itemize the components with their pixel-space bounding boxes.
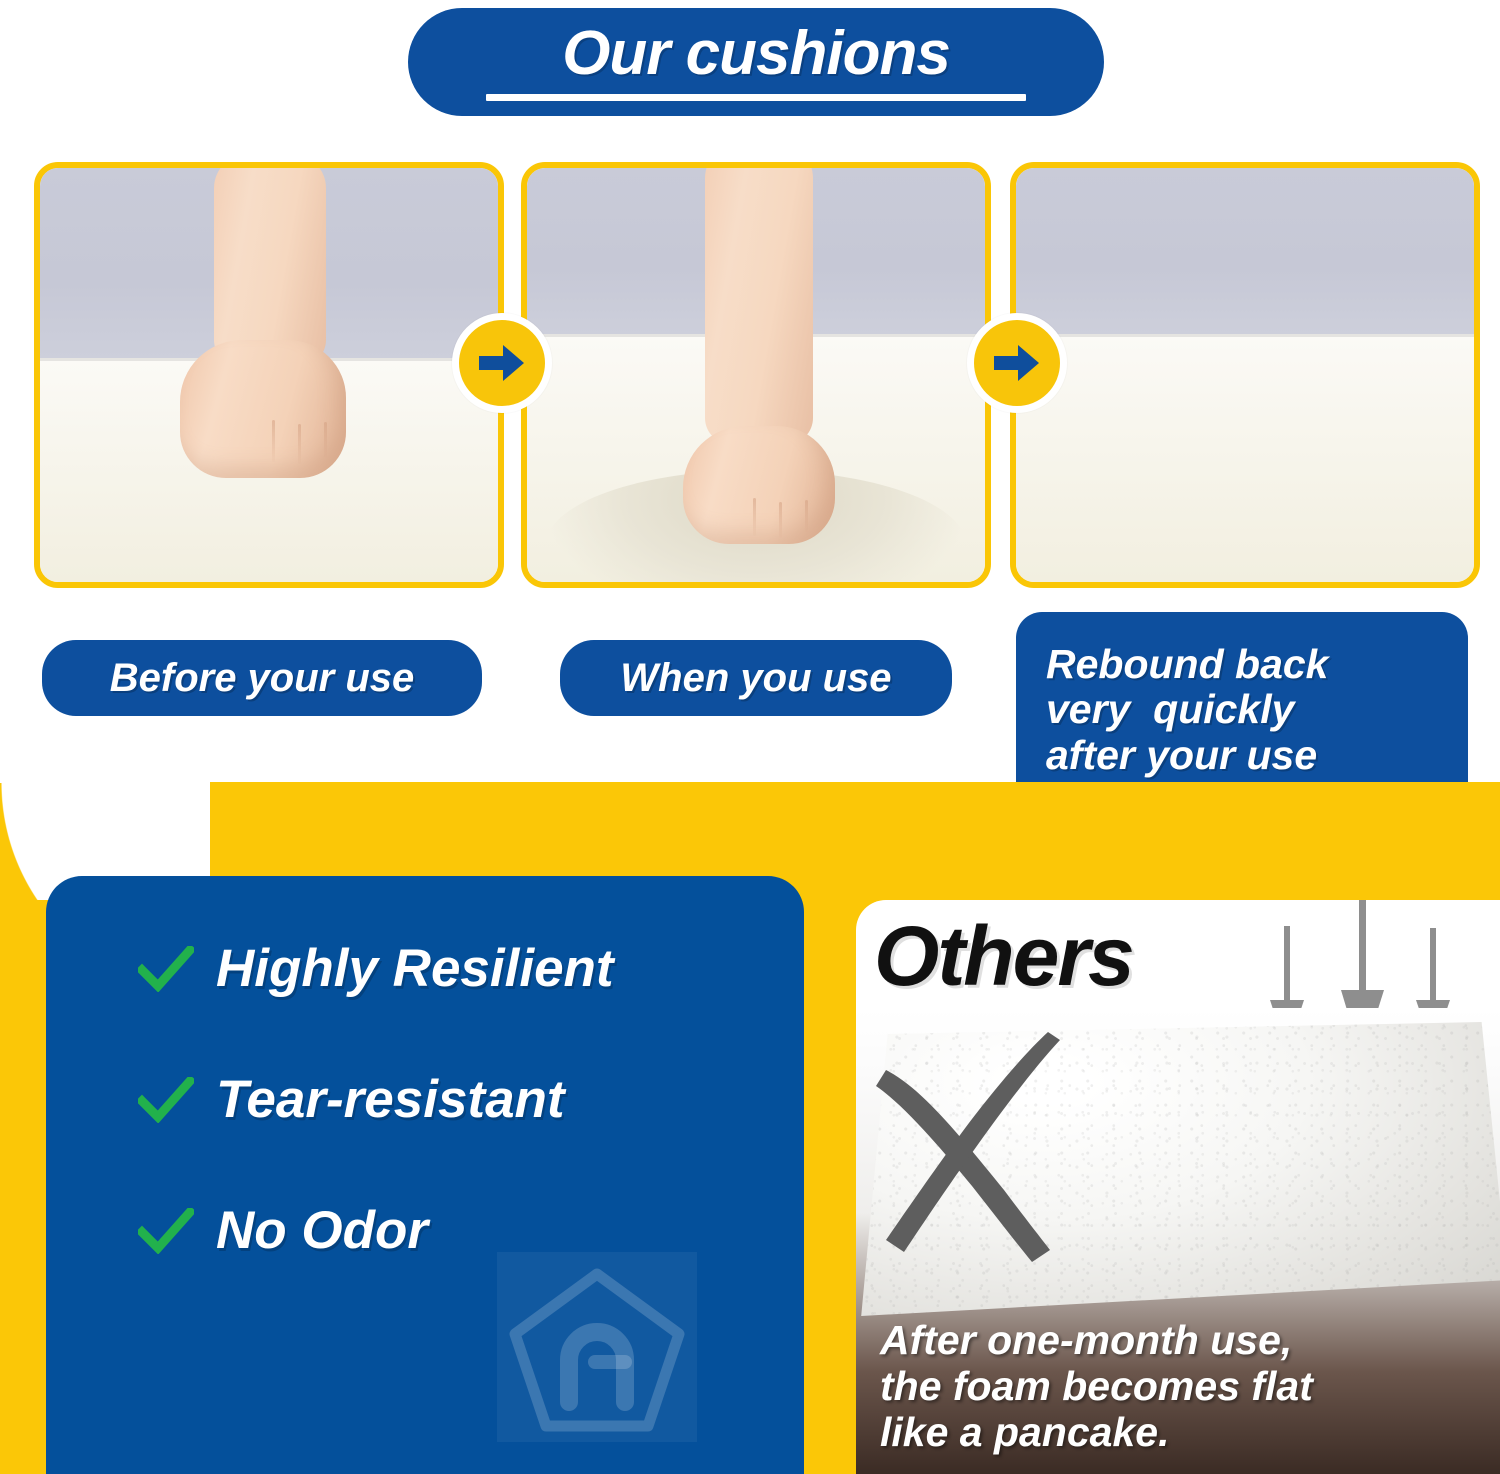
infographic-canvas: Our cushions: [0, 0, 1500, 1474]
check-icon: [138, 946, 194, 992]
caption-line-1: Rebound back: [1046, 642, 1328, 687]
feature-item: Tear-resistant: [138, 1073, 798, 1126]
x-cross-icon: [864, 1018, 1114, 1268]
caption-text: Before your use: [110, 656, 415, 701]
pentagon-a-logo-icon: [497, 1252, 697, 1442]
demo-photo-during: [521, 162, 991, 588]
page-title-pill: Our cushions: [408, 8, 1104, 116]
caption-line-2: very quickly: [1046, 687, 1294, 732]
step-arrow-2: [967, 313, 1067, 413]
photo-foam-surface: [1016, 334, 1474, 582]
arrow-right-icon: [479, 343, 525, 383]
title-underline: [486, 94, 1026, 101]
step-arrow-1: [452, 313, 552, 413]
others-caption-line-1: After one-month use,: [880, 1318, 1480, 1364]
feature-item: Highly Resilient: [138, 942, 798, 995]
caption-when-you-use: When you use: [560, 640, 952, 716]
check-icon: [138, 1077, 194, 1123]
fist-illustration-before: [180, 164, 360, 464]
others-title: Others: [874, 914, 1133, 998]
caption-line-3: after your use: [1046, 733, 1317, 778]
others-flat-foam-photo: After one-month use, the foam becomes fl…: [856, 1008, 1500, 1474]
fist-illustration-during: [669, 162, 849, 574]
caption-rebound: Rebound back very quickly after your use: [1016, 612, 1468, 808]
demo-photo-after: [1010, 162, 1480, 588]
check-icon: [138, 1208, 194, 1254]
feature-label: No Odor: [216, 1204, 428, 1257]
feature-label: Tear-resistant: [216, 1073, 565, 1126]
others-caption-line-2: the foam becomes flat: [880, 1364, 1480, 1410]
photo-background-wall: [1016, 168, 1474, 334]
page-title: Our cushions: [562, 23, 950, 85]
demo-photo-before: [34, 162, 504, 588]
feature-item: No Odor: [138, 1204, 798, 1257]
others-caption-line-3: like a pancake.: [880, 1410, 1480, 1456]
arrow-right-icon: [994, 343, 1040, 383]
caption-before-your-use: Before your use: [42, 640, 482, 716]
feature-list: Highly Resilient Tear-resistant No Odor: [138, 942, 798, 1335]
others-comparison-card: Others: [856, 900, 1500, 1474]
caption-text: When you use: [620, 656, 891, 701]
feature-label: Highly Resilient: [216, 942, 614, 995]
others-caption: After one-month use, the foam becomes fl…: [880, 1318, 1480, 1456]
